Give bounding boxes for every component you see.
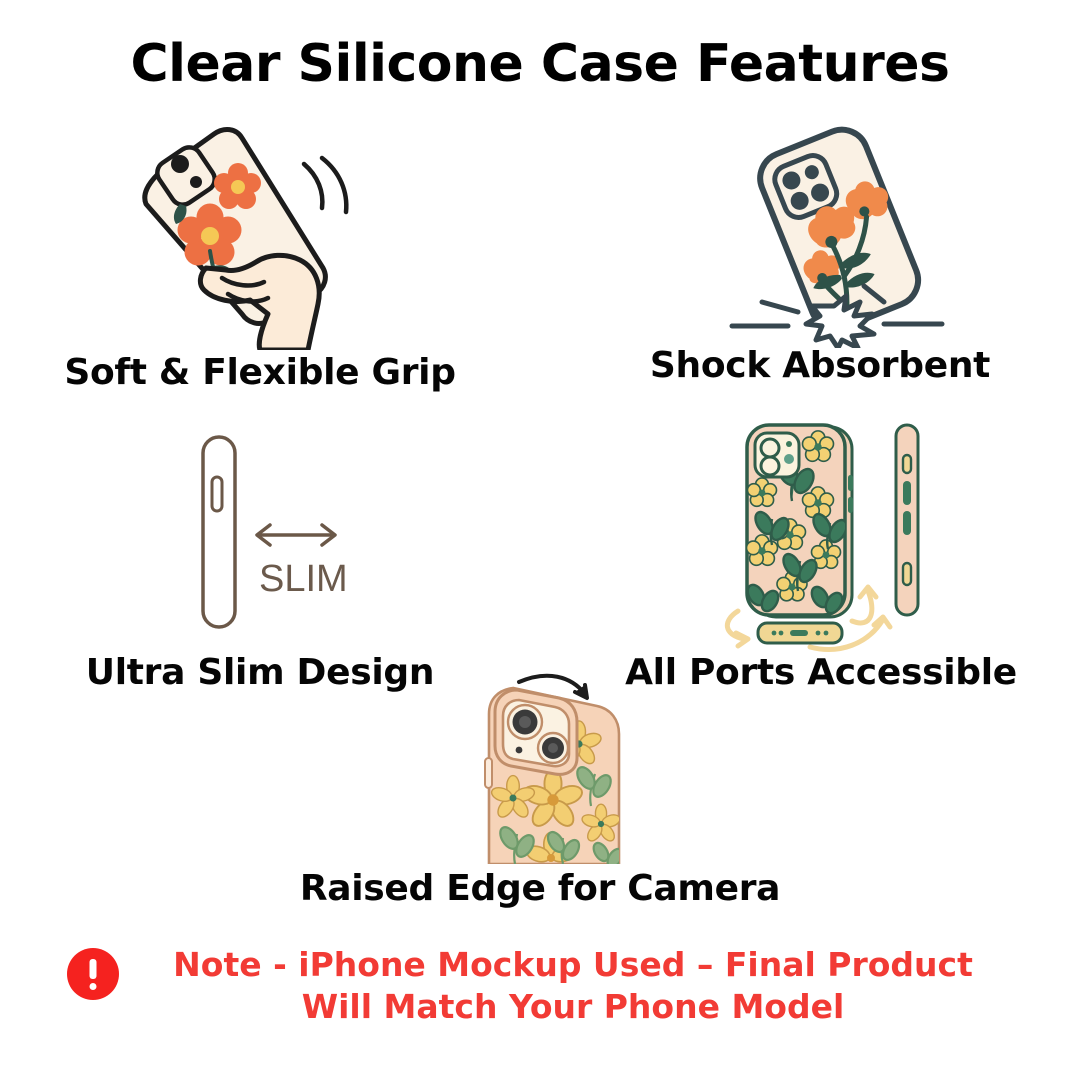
feature-caption-slim: Ultra Slim Design — [0, 652, 520, 693]
feature-caption-camera: Raised Edge for Camera — [280, 868, 800, 909]
hand-holding-flexing-phone-case-illustration — [118, 118, 358, 350]
exclamation-circle-icon — [67, 948, 119, 1000]
page-title: Clear Silicone Case Features — [0, 34, 1080, 94]
floral-case-bottom-and-side-port-cutouts-illustration — [700, 415, 965, 655]
infographic-page: Clear Silicone Case Features — [0, 0, 1080, 1080]
floral-case-raised-camera-bump-illustration — [455, 672, 670, 864]
phone-case-dropping-impact-burst-illustration — [728, 120, 958, 348]
slim-measure-label: SLIM — [259, 558, 348, 600]
phone-side-profile-thickness-arrow-illustration: SLIM — [175, 425, 390, 640]
feature-caption-shock: Shock Absorbent — [565, 345, 1075, 386]
disclaimer-note-text: Note - iPhone Mockup Used – Final Produc… — [133, 944, 1013, 1028]
disclaimer-note: Note - iPhone Mockup Used – Final Produc… — [0, 944, 1080, 1028]
feature-caption-grip: Soft & Flexible Grip — [0, 352, 520, 393]
